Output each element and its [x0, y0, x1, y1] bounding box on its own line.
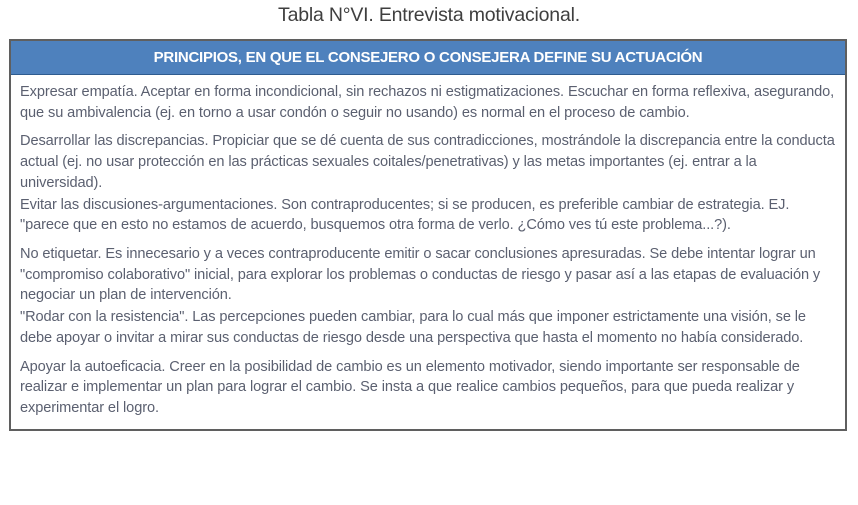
- principle-paragraph: No etiquetar. Es innecesario y a veces c…: [20, 244, 836, 306]
- document-page: Tabla N°VI. Entrevista motivacional. PRI…: [0, 0, 858, 505]
- principle-paragraph: "Rodar con la resistencia". Las percepci…: [20, 307, 836, 348]
- principles-table: PRINCIPIOS, EN QUE EL CONSEJERO O CONSEJ…: [9, 39, 847, 431]
- principle-paragraph: Desarrollar las discrepancias. Propiciar…: [20, 131, 836, 193]
- table-header-row: PRINCIPIOS, EN QUE EL CONSEJERO O CONSEJ…: [11, 41, 845, 75]
- table-caption: Tabla N°VI. Entrevista motivacional.: [0, 4, 858, 27]
- principle-paragraph: Apoyar la autoeficacia. Creer en la posi…: [20, 357, 836, 419]
- principle-paragraph: Expresar empatía. Aceptar en forma incon…: [20, 82, 836, 123]
- table-header-label: PRINCIPIOS, EN QUE EL CONSEJERO O CONSEJ…: [154, 49, 703, 66]
- table-body-cell: Expresar empatía. Aceptar en forma incon…: [11, 75, 845, 429]
- principle-paragraph: Evitar las discusiones-argumentaciones. …: [20, 195, 836, 236]
